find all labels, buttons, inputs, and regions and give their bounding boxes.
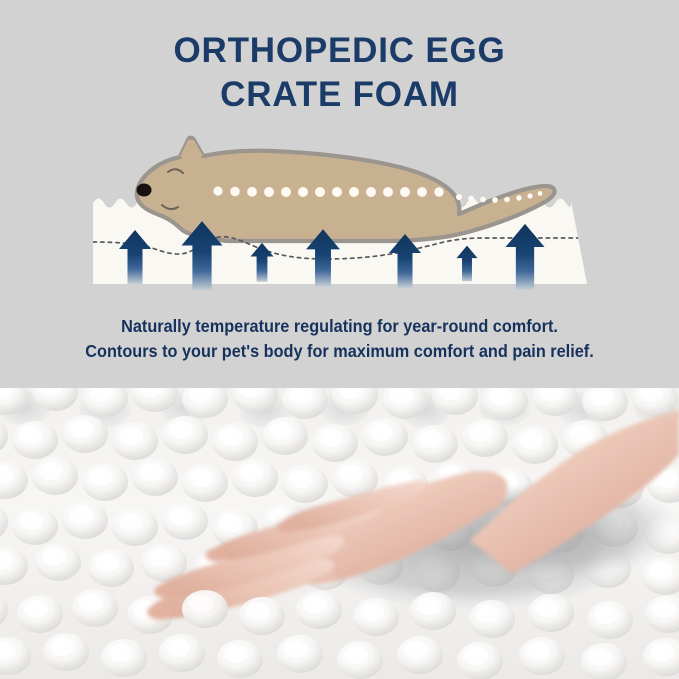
title-line-1: ORTHOPEDIC EGG (0, 29, 679, 73)
dog-nose-icon (137, 184, 152, 197)
page-title: ORTHOPEDIC EGG CRATE FOAM (0, 29, 679, 117)
tagline-line-2: Contours to your pet's body for maximum … (24, 339, 655, 364)
feature-description: Naturally temperature regulating for yea… (24, 314, 655, 364)
dog-on-foam-illustration (0, 128, 679, 308)
top-info-panel: ORTHOPEDIC EGG CRATE FOAM (0, 0, 679, 388)
foam-photo-graphic (0, 388, 679, 679)
title-line-2: CRATE FOAM (0, 73, 679, 117)
tagline-line-1: Naturally temperature regulating for yea… (24, 314, 655, 339)
product-infographic: ORTHOPEDIC EGG CRATE FOAM (0, 0, 679, 679)
foam-closeup-photo (0, 388, 679, 679)
